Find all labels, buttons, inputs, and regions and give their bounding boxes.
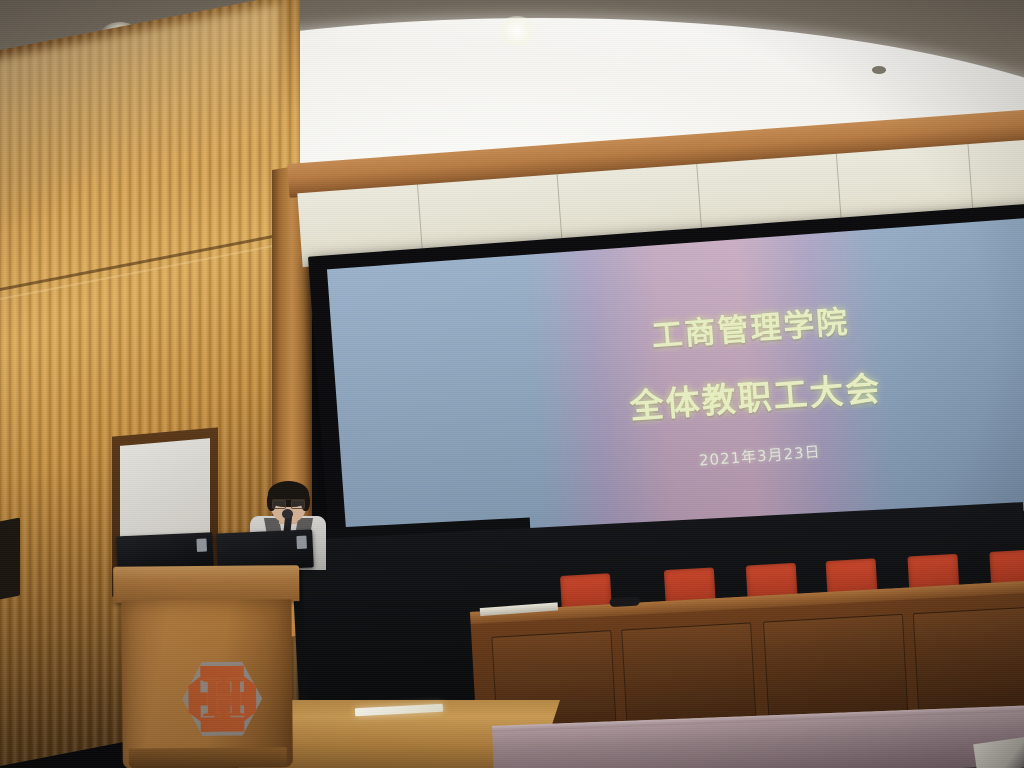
ceiling-fixture-icon: [872, 66, 886, 74]
podium-logo: H: [182, 661, 263, 736]
podium-base: [129, 747, 287, 768]
monitor-badge: [296, 536, 307, 549]
desk-panel: [913, 607, 1024, 714]
auditorium-photo: 工商管理学院 全体教职工大会 2021年3月23日: [0, 0, 1024, 768]
microphone-head-icon: [282, 509, 293, 519]
downlight-icon: [497, 16, 537, 46]
slide-date: 2021年3月23日: [698, 440, 821, 470]
podium: H: [103, 565, 305, 768]
microphone-on-desk[interactable]: [609, 597, 639, 608]
podium-top-ledge: [113, 565, 299, 603]
glasses-icon: [272, 499, 305, 506]
logo-letter: H: [202, 670, 243, 728]
desk-panel: [621, 622, 756, 729]
slide-title-line-1: 工商管理学院: [650, 296, 851, 355]
monitor-badge: [196, 539, 207, 552]
desk-panel: [763, 614, 908, 722]
podium-body: H: [121, 599, 292, 768]
wall-dark-panel: [0, 517, 20, 600]
slide-title-line-2: 全体教职工大会: [628, 361, 883, 428]
